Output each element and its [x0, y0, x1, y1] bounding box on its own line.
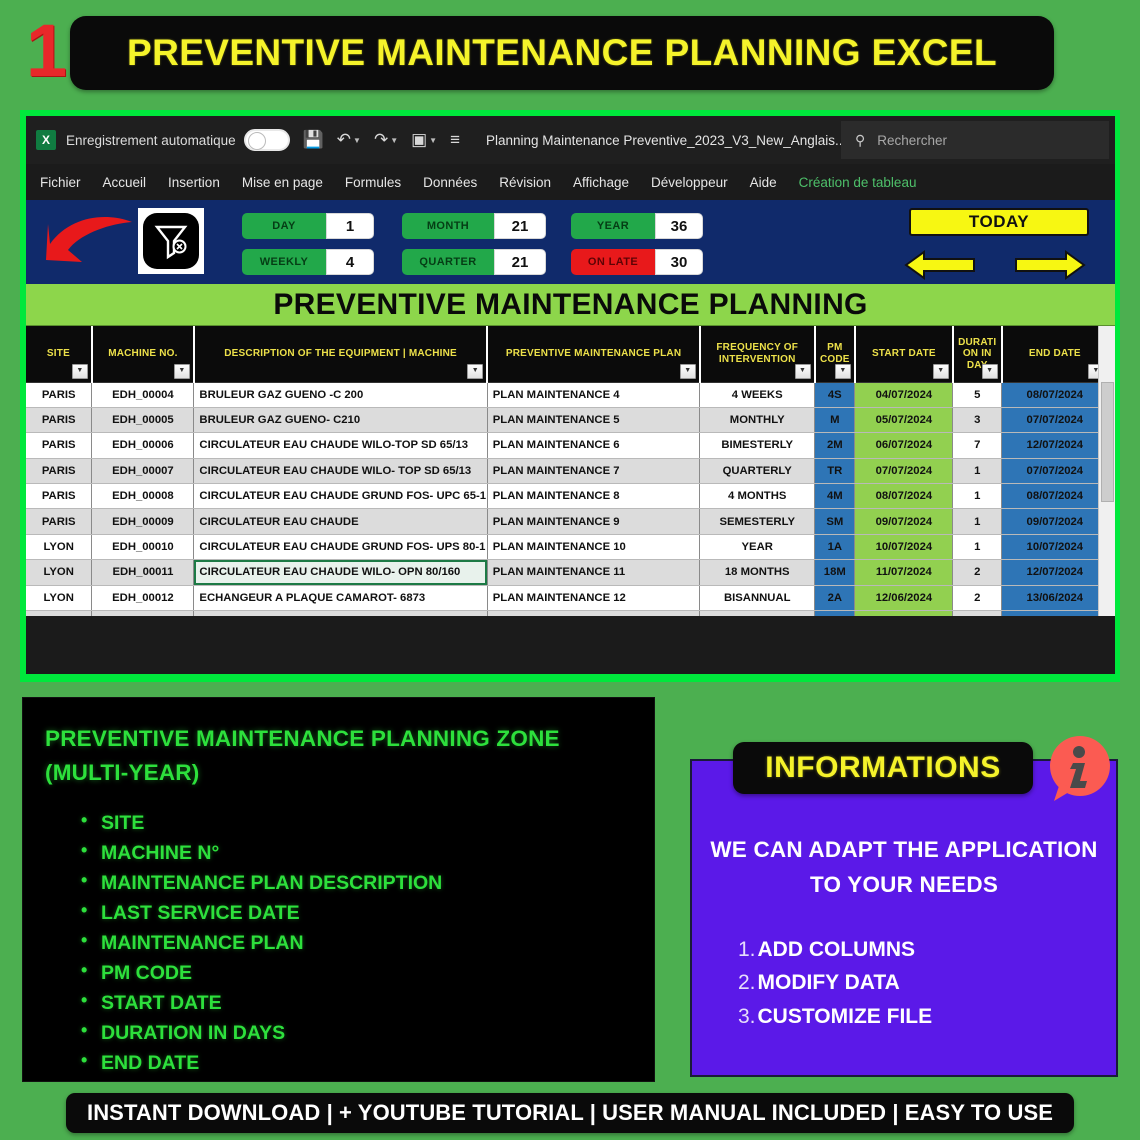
stat-pill-month[interactable]: MONTH 21 — [402, 213, 546, 239]
column-header-label: SITE — [47, 348, 70, 359]
cell-frequency[interactable]: 18 MONTHS — [700, 560, 815, 585]
column-header[interactable]: PREVENTIVE MAINTENANCE PLAN▼ — [487, 326, 700, 382]
info-step-label: ADD COLUMNS — [758, 933, 916, 967]
ribbon-tab-fichier[interactable]: Fichier — [40, 175, 81, 190]
stat-value: 30 — [655, 249, 703, 275]
stat-label: ON LATE — [571, 249, 655, 275]
zone-list-item: PM CODE — [81, 958, 654, 988]
zone-list-item: MAINTENANCE PLAN — [81, 928, 654, 958]
column-header[interactable]: MACHINE NO.▼ — [92, 326, 194, 382]
cell-plan[interactable]: PLAN MAINTENANCE 7 — [487, 458, 700, 483]
stat-pill-weekly[interactable]: WEEKLY 4 — [242, 249, 374, 275]
table-row[interactable]: PARISEDH_00009CIRCULATEUR EAU CHAUDEPLAN… — [26, 509, 1108, 534]
banner-pill: PREVENTIVE MAINTENANCE PLANNING EXCEL — [70, 16, 1054, 90]
cell-plan[interactable]: PLAN MAINTENANCE 6 — [487, 433, 700, 458]
cell-site[interactable]: LYON — [26, 560, 92, 585]
column-header[interactable]: DURATI ON IN DAY▼ — [953, 326, 1002, 382]
cell-duration[interactable]: 1 — [953, 509, 1002, 534]
filter-dropdown-icon[interactable]: ▼ — [795, 364, 811, 379]
table-row[interactable]: LYONEDH_00012ECHANGEUR A PLAQUE CAMAROT-… — [26, 585, 1108, 610]
cell-pm[interactable]: 18M — [815, 560, 855, 585]
cell-machine[interactable]: EDH_00009 — [92, 509, 194, 534]
table-row[interactable]: PARISEDH_00006CIRCULATEUR EAU CHAUDE WIL… — [26, 433, 1108, 458]
info-bubble-icon — [1040, 733, 1116, 809]
info-step-label: MODIFY DATA — [758, 966, 900, 1000]
cell-frequency[interactable]: 4 MONTHS — [700, 484, 815, 509]
cell-end[interactable]: 08/07/2024 — [1002, 484, 1108, 509]
clear-filter-icon[interactable] — [138, 208, 204, 274]
table-row[interactable]: PARISEDH_00008CIRCULATEUR EAU CHAUDE GRU… — [26, 484, 1108, 509]
excel-title-bar: X Enregistrement automatique 💾 ↶▼ ↷▼ ▣▼ … — [26, 116, 1115, 164]
cell-site[interactable]: PARIS — [26, 458, 92, 483]
zone-title: PREVENTIVE MAINTENANCE PLANNING ZONE (MU… — [23, 698, 654, 790]
column-header-label: PREVENTIVE MAINTENANCE PLAN — [506, 348, 681, 359]
column-header-label: END DATE — [1029, 348, 1081, 359]
column-header[interactable]: PM CODE▼ — [815, 326, 855, 382]
more-commands-icon[interactable]: ≡ — [450, 130, 460, 150]
cell-duration[interactable]: 1 — [953, 534, 1002, 559]
cell-description[interactable]: CIRCULATEUR EAU CHAUDE GRUND FOS- UPC 65… — [194, 484, 487, 509]
arrow-right-icon[interactable] — [1014, 250, 1086, 285]
cell-plan[interactable]: PLAN MAINTENANCE 8 — [487, 484, 700, 509]
cell-duration[interactable]: 2 — [953, 585, 1002, 610]
cell-end[interactable]: 07/07/2024 — [1002, 458, 1108, 483]
cell-frequency[interactable]: 4 WEEKS — [700, 382, 815, 407]
stat-pill-year[interactable]: YEAR 36 — [571, 213, 703, 239]
cell-description[interactable]: BRULEUR GAZ GUENO- C210 — [194, 407, 487, 432]
cell-duration[interactable]: 7 — [953, 433, 1002, 458]
cell-pm[interactable]: 4S — [815, 382, 855, 407]
zone-list-item: MAINTENANCE PLAN DESCRIPTION — [81, 868, 654, 898]
cell-pm[interactable]: 3A — [815, 611, 855, 616]
info-step: 3.CUSTOMIZE FILE — [738, 1000, 1116, 1034]
cell-machine[interactable]: EDH_00006 — [92, 433, 194, 458]
table-row[interactable]: PARISEDH_00007CIRCULATEUR EAU CHAUDE WIL… — [26, 458, 1108, 483]
cell-description[interactable]: CIRCULATEUR EAU CHAUDE — [194, 509, 487, 534]
table-row[interactable]: LYONEDH_00011CIRCULATEUR EAU CHAUDE WILO… — [26, 560, 1108, 585]
ribbon-tab-affichage[interactable]: Affichage — [573, 175, 629, 190]
stat-pill-on-late[interactable]: ON LATE 30 — [571, 249, 703, 275]
ribbon-tab-donn-es[interactable]: Données — [423, 175, 477, 190]
cell-machine[interactable]: EDH_00008 — [92, 484, 194, 509]
cell-duration[interactable]: 3 — [953, 407, 1002, 432]
stat-label: QUARTER — [402, 249, 494, 275]
cell-machine[interactable]: EDH_00010 — [92, 534, 194, 559]
cell-description[interactable]: BRULEUR GAZ GUENO -C 200 — [194, 382, 487, 407]
cell-machine[interactable]: EDH_00013 — [92, 611, 194, 616]
cell-frequency[interactable]: YEAR — [700, 534, 815, 559]
cell-end[interactable]: 07/07/2024 — [1002, 407, 1108, 432]
zone-list-item: START DATE — [81, 988, 654, 1018]
ribbon-tab-d-veloppeur[interactable]: Développeur — [651, 175, 728, 190]
cell-plan[interactable]: PLAN MAINTENANCE 9 — [487, 509, 700, 534]
back-arrow-icon[interactable] — [44, 210, 136, 277]
cell-start[interactable]: 12/06/2024 — [855, 585, 953, 610]
footer-banner: INSTANT DOWNLOAD | + YOUTUBE TUTORIAL | … — [66, 1093, 1074, 1133]
filter-dropdown-icon[interactable]: ▼ — [72, 364, 88, 379]
informations-badge-label: INFORMATIONS — [765, 751, 1000, 785]
filter-dropdown-icon[interactable]: ▼ — [467, 364, 483, 379]
ribbon-tab-insertion[interactable]: Insertion — [168, 175, 220, 190]
stat-label: MONTH — [402, 213, 494, 239]
column-header[interactable]: SITE▼ — [26, 326, 92, 382]
cell-pm[interactable]: SM — [815, 509, 855, 534]
sheet-title: PREVENTIVE MAINTENANCE PLANNING — [273, 288, 867, 322]
cell-frequency[interactable]: SEMESTERLY — [700, 509, 815, 534]
excel-logo-icon: X — [36, 130, 56, 150]
search-icon: ⚲ — [855, 132, 865, 149]
cell-pm[interactable]: 4M — [815, 484, 855, 509]
stat-label: YEAR — [571, 213, 655, 239]
planning-table-wrapper: SITE▼MACHINE NO.▼DESCRIPTION OF THE EQUI… — [26, 326, 1115, 616]
zone-list-item: MACHINE N° — [81, 838, 654, 868]
cell-end[interactable]: 12/07/2024 — [1002, 560, 1108, 585]
column-header-label: PM CODE — [820, 342, 850, 365]
cell-start[interactable]: 11/07/2024 — [855, 560, 953, 585]
cell-site[interactable]: LYON — [26, 585, 92, 610]
info-step-label: CUSTOMIZE FILE — [758, 1000, 933, 1034]
cell-frequency[interactable]: BISANNUAL — [700, 585, 815, 610]
zone-list-item: SITE — [81, 808, 654, 838]
info-step-number: 1. — [738, 933, 756, 967]
cell-end[interactable]: 09/07/2024 — [1002, 509, 1108, 534]
cell-start[interactable]: 20/07/2024 — [855, 611, 953, 616]
table-row[interactable]: PARISEDH_00005BRULEUR GAZ GUENO- C210PLA… — [26, 407, 1108, 432]
cell-machine[interactable]: EDH_00012 — [92, 585, 194, 610]
save-icon[interactable]: 💾 — [303, 130, 324, 150]
page-title: PREVENTIVE MAINTENANCE PLANNING EXCEL — [127, 32, 997, 74]
cell-description[interactable]: CIRCULATEUR EAU CHAUDE WILO- TOP SD 65/1… — [194, 458, 487, 483]
cell-end[interactable]: 08/07/2024 — [1002, 382, 1108, 407]
cell-description[interactable]: CIRCULATEUR EAU CHAUDE GRUND FOS- UPS 80… — [194, 534, 487, 559]
column-header-label: DESCRIPTION OF THE EQUIPMENT | MACHINE — [224, 348, 457, 359]
stat-value: 36 — [655, 213, 703, 239]
info-steps-list: 1.ADD COLUMNS2.MODIFY DATA3.CUSTOMIZE FI… — [738, 933, 1116, 1034]
stat-label: WEEKLY — [242, 249, 326, 275]
cell-start[interactable]: 06/07/2024 — [855, 433, 953, 458]
cell-site[interactable]: PARIS — [26, 382, 92, 407]
info-step-number: 3. — [738, 1000, 756, 1034]
cell-plan[interactable]: PLAN MAINTENANCE 5 — [487, 407, 700, 432]
zone-field-list: SITEMACHINE N°MAINTENANCE PLAN DESCRIPTI… — [81, 808, 654, 1078]
autosave-label: Enregistrement automatique — [66, 133, 236, 148]
table-header-row: SITE▼MACHINE NO.▼DESCRIPTION OF THE EQUI… — [26, 326, 1108, 382]
cell-plan[interactable]: PLAN MAINTENANCE 12 — [487, 585, 700, 610]
column-header-label: START DATE — [872, 348, 936, 359]
cell-duration[interactable]: 1 — [953, 484, 1002, 509]
cell-start[interactable]: 10/07/2024 — [855, 534, 953, 559]
cell-site[interactable]: PARIS — [26, 433, 92, 458]
stat-pill-day[interactable]: DAY 1 — [242, 213, 374, 239]
cell-machine[interactable]: EDH_00011 — [92, 560, 194, 585]
cell-plan[interactable]: PLAN MAINTENANCE 13 — [487, 611, 700, 616]
cell-start[interactable]: 07/07/2024 — [855, 458, 953, 483]
cell-machine[interactable]: EDH_00007 — [92, 458, 194, 483]
informations-badge: INFORMATIONS — [733, 742, 1033, 794]
filter-dropdown-icon[interactable]: ▼ — [680, 364, 696, 379]
ribbon-tab-r-vision[interactable]: Révision — [499, 175, 551, 190]
cell-plan[interactable]: PLAN MAINTENANCE 10 — [487, 534, 700, 559]
stat-label: DAY — [242, 213, 326, 239]
stat-value: 21 — [494, 249, 546, 275]
cell-plan[interactable]: PLAN MAINTENANCE 4 — [487, 382, 700, 407]
info-step: 1.ADD COLUMNS — [738, 933, 1116, 967]
table-body: PARISEDH_00004BRULEUR GAZ GUENO -C 200PL… — [26, 382, 1108, 616]
arrow-left-icon[interactable] — [904, 250, 976, 285]
cell-end[interactable]: 12/07/2024 — [1002, 433, 1108, 458]
cell-description[interactable]: CIRCULATEUR EAU CHAUDE WILO-TOP SD 65/13 — [194, 433, 487, 458]
cell-description[interactable]: CIRCULATEUR EAU CHAUDE WILO- OPN 80/160 — [194, 560, 487, 585]
cell-pm[interactable]: 1A — [815, 534, 855, 559]
top-banner: 1 PREVENTIVE MAINTENANCE PLANNING EXCEL — [0, 0, 1140, 100]
cell-duration[interactable]: 5 — [953, 382, 1002, 407]
zone-list-item: LAST SERVICE DATE — [81, 898, 654, 928]
ribbon-tab-accueil[interactable]: Accueil — [103, 175, 147, 190]
today-button[interactable]: TODAY — [909, 208, 1089, 236]
cell-end[interactable]: 13/06/2024 — [1002, 585, 1108, 610]
cell-pm[interactable]: M — [815, 407, 855, 432]
cell-duration[interactable]: 2 — [953, 611, 1002, 616]
planning-table: SITE▼MACHINE NO.▼DESCRIPTION OF THE EQUI… — [26, 326, 1109, 616]
column-header-label: MACHINE NO. — [108, 348, 177, 359]
undo-icon[interactable]: ↶▼ — [337, 130, 361, 150]
cell-site[interactable]: PARIS — [26, 484, 92, 509]
control-strip: DAY 1 WEEKLY 4 MONTH 21 QUARTER 21 YEAR … — [26, 200, 1115, 284]
zone-list-item: END DATE — [81, 1048, 654, 1078]
cell-machine[interactable]: EDH_00005 — [92, 407, 194, 432]
cell-machine[interactable]: EDH_00004 — [92, 382, 194, 407]
cell-description[interactable]: ECHANGEUR A PLAQUE CAMAROT- 6873 — [194, 585, 487, 610]
search-input[interactable]: ⚲ Rechercher — [841, 121, 1109, 159]
stat-pill-quarter[interactable]: QUARTER 21 — [402, 249, 546, 275]
table-row[interactable]: LYONEDH_00010CIRCULATEUR EAU CHAUDE GRUN… — [26, 534, 1108, 559]
cell-duration[interactable]: 2 — [953, 560, 1002, 585]
cell-start[interactable]: 04/07/2024 — [855, 382, 953, 407]
sheet-title-banner: PREVENTIVE MAINTENANCE PLANNING — [26, 284, 1115, 326]
ribbon-tab-cr-ation-de-tableau[interactable]: Création de tableau — [799, 175, 917, 190]
cell-duration[interactable]: 1 — [953, 458, 1002, 483]
ribbon-tab-mise-en-page[interactable]: Mise en page — [242, 175, 323, 190]
cell-start[interactable]: 05/07/2024 — [855, 407, 953, 432]
column-header[interactable]: START DATE▼ — [855, 326, 953, 382]
zone-list-item: DURATION IN DAYS — [81, 1018, 654, 1048]
filter-dropdown-icon[interactable]: ▼ — [174, 364, 190, 379]
cell-pm[interactable]: 2A — [815, 585, 855, 610]
info-step-number: 2. — [738, 966, 756, 1000]
step-number-badge: 1 — [26, 14, 63, 88]
ribbon-tab-formules[interactable]: Formules — [345, 175, 401, 190]
cell-plan[interactable]: PLAN MAINTENANCE 11 — [487, 560, 700, 585]
cell-end[interactable]: 10/07/2024 — [1002, 534, 1108, 559]
cell-frequency[interactable]: THREE YEARS — [700, 611, 815, 616]
document-title-area[interactable]: Planning Maintenance Preventive_2023_V3_… — [486, 133, 869, 148]
stat-value: 4 — [326, 249, 374, 275]
quick-access-icon[interactable]: ▣▼ — [411, 130, 437, 150]
cell-frequency[interactable]: MONTHLY — [700, 407, 815, 432]
column-header[interactable]: END DATE▼ — [1002, 326, 1108, 382]
planning-zone-panel: PREVENTIVE MAINTENANCE PLANNING ZONE (MU… — [22, 697, 655, 1082]
column-header[interactable]: FREQUENCY OF INTERVENTION▼ — [700, 326, 815, 382]
table-row[interactable]: LYONEDH_00013ECHANGEUR A PLAQUE CIAT- PW… — [26, 611, 1108, 616]
search-placeholder: Rechercher — [877, 133, 947, 148]
excel-window: X Enregistrement automatique 💾 ↶▼ ↷▼ ▣▼ … — [26, 116, 1115, 674]
cell-end[interactable]: 21/07/2024 — [1002, 611, 1108, 616]
cell-pm[interactable]: 2M — [815, 433, 855, 458]
document-title: Planning Maintenance Preventive_2023_V3_… — [486, 133, 850, 148]
stat-value: 21 — [494, 213, 546, 239]
cell-frequency[interactable]: QUARTERLY — [700, 458, 815, 483]
filter-dropdown-icon[interactable]: ▼ — [982, 364, 998, 379]
excel-screenshot-frame: X Enregistrement automatique 💾 ↶▼ ↷▼ ▣▼ … — [20, 110, 1120, 682]
ribbon-tab-aide[interactable]: Aide — [750, 175, 777, 190]
column-header-label: FREQUENCY OF INTERVENTION — [716, 342, 798, 365]
cell-frequency[interactable]: BIMESTERLY — [700, 433, 815, 458]
cell-start[interactable]: 08/07/2024 — [855, 484, 953, 509]
table-row[interactable]: PARISEDH_00004BRULEUR GAZ GUENO -C 200PL… — [26, 382, 1108, 407]
filter-dropdown-icon[interactable]: ▼ — [933, 364, 949, 379]
cell-pm[interactable]: TR — [815, 458, 855, 483]
cell-site[interactable]: PARIS — [26, 509, 92, 534]
cell-start[interactable]: 09/07/2024 — [855, 509, 953, 534]
cell-site[interactable]: PARIS — [26, 407, 92, 432]
footer-text: INSTANT DOWNLOAD | + YOUTUBE TUTORIAL | … — [87, 1100, 1053, 1126]
filter-dropdown-icon[interactable]: ▼ — [835, 364, 851, 379]
redo-icon[interactable]: ↷▼ — [374, 130, 398, 150]
stat-value: 1 — [326, 213, 374, 239]
info-step: 2.MODIFY DATA — [738, 966, 1116, 1000]
cell-site[interactable]: LYON — [26, 611, 92, 616]
ribbon-tabs: FichierAccueilInsertionMise en pageFormu… — [26, 164, 1115, 200]
column-header[interactable]: DESCRIPTION OF THE EQUIPMENT | MACHINE▼ — [194, 326, 487, 382]
scrollbar-thumb[interactable] — [1101, 382, 1114, 502]
cell-description[interactable]: ECHANGEUR A PLAQUE CIAT- PWA.18.33 — [194, 611, 487, 616]
cell-site[interactable]: LYON — [26, 534, 92, 559]
vertical-scrollbar[interactable] — [1098, 326, 1115, 616]
autosave-toggle[interactable] — [244, 129, 290, 151]
